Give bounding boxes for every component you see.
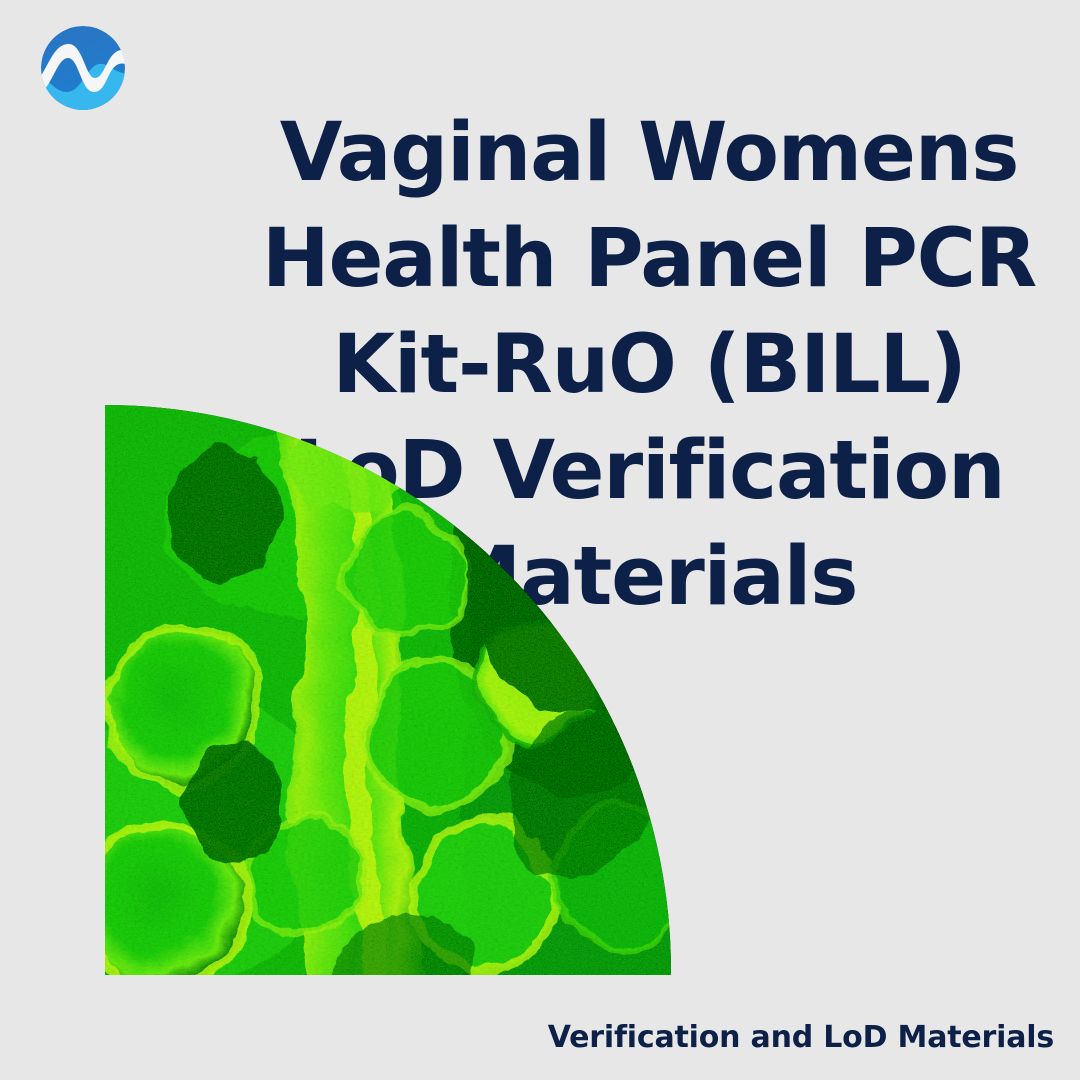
fluorescence-microscopy-cells-image <box>105 405 671 975</box>
figure-caption: Verification and LoD Materials <box>548 1019 1054 1057</box>
microscopy-figure <box>105 405 671 975</box>
wave-m-circle-logo-icon <box>37 22 129 114</box>
poster-canvas: Vaginal Womens Health Panel PCR Kit-RuO … <box>0 0 1080 1080</box>
